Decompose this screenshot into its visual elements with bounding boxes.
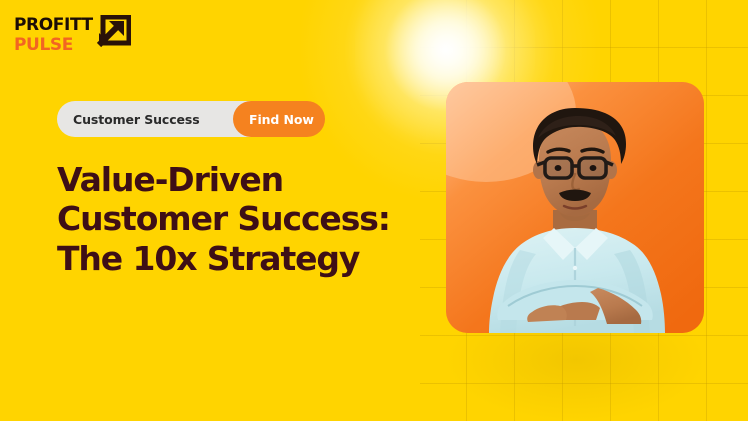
- brand-name-secondary: PULSE: [14, 37, 93, 54]
- portrait-illustration: [446, 82, 704, 333]
- arrow-up-right-in-square-icon: [97, 15, 131, 54]
- brand-logo[interactable]: PROFITT PULSE: [14, 14, 131, 54]
- search-input[interactable]: [73, 112, 233, 127]
- headline-line-1: Value-Driven: [57, 160, 437, 199]
- headline-line-3: The 10x Strategy: [57, 239, 437, 278]
- find-now-button[interactable]: Find Now: [233, 101, 325, 137]
- brand-wordmark: PROFITT PULSE: [14, 14, 93, 54]
- portrait-photo-card: [446, 82, 704, 333]
- promo-banner: PROFITT PULSE Find Now Value-Driven Cust…: [0, 0, 748, 421]
- headline-line-2: Customer Success:: [57, 199, 437, 238]
- search-bar[interactable]: Find Now: [57, 101, 317, 137]
- brand-name-primary: PROFITT: [14, 17, 93, 34]
- headline: Value-Driven Customer Success: The 10x S…: [57, 160, 437, 278]
